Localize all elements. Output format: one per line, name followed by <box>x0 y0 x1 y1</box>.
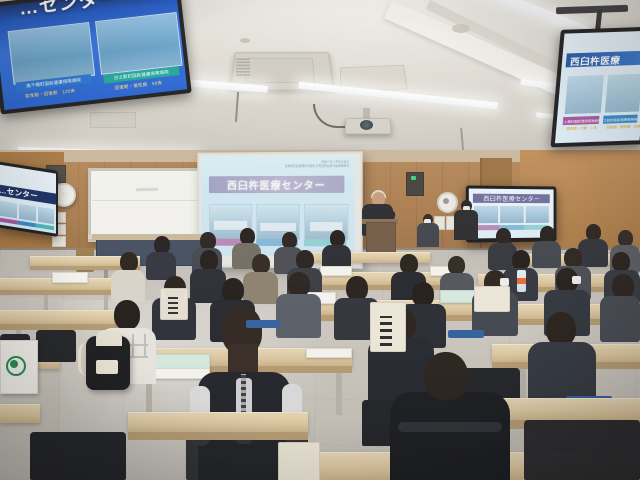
desk-row-c-left <box>0 310 126 325</box>
lecture-hall-photo: 令和７年１月吉日改訂 宮崎県西臼杵郡町村組合立西臼杵広域行政事務組合 西臼杵医療… <box>0 0 640 480</box>
ac-grille <box>245 58 315 83</box>
chair-backrest[interactable] <box>524 420 640 480</box>
light-switch[interactable] <box>52 236 66 247</box>
tote-bag-floor <box>278 442 320 480</box>
slide-title-band: 西臼杵医療センター <box>209 176 344 193</box>
chair-seat[interactable] <box>448 330 484 338</box>
bottle-label <box>517 278 526 284</box>
chair-seat[interactable] <box>246 320 280 328</box>
attendee-head <box>200 250 218 271</box>
ac-vent-icon <box>236 59 250 76</box>
attendee-head <box>400 254 418 274</box>
wall-monitor-right-title: 西臼杵医療センター <box>483 194 540 203</box>
desk-row-e-center <box>128 412 308 433</box>
monitor-right-photo-1 <box>563 74 605 115</box>
monitor-right-title: 西臼杵医療 <box>570 53 622 69</box>
attendee-head <box>564 248 582 268</box>
attendee <box>578 239 608 267</box>
attendee <box>190 269 226 303</box>
tote-bag <box>474 286 510 312</box>
clock-hands-icon <box>443 198 449 204</box>
attendee-head <box>252 254 270 274</box>
backpack-flap <box>96 330 122 346</box>
attendee-head-foreground <box>424 352 468 400</box>
clock-hands-icon <box>59 190 66 197</box>
attendee-head <box>546 312 576 346</box>
handout-paper <box>306 348 352 358</box>
ceiling-speaker-icon <box>240 38 250 43</box>
wall-monitor-left: …センター <box>0 164 56 233</box>
whiteboard-line <box>92 200 204 201</box>
backpack-pocket <box>96 360 118 374</box>
monitor-right-sub-2: 回復期・慢性期 50床 <box>606 123 640 129</box>
desk-edge <box>0 290 120 295</box>
staff-member <box>417 223 439 247</box>
monitor-right-photo-2 <box>604 73 640 114</box>
wall-monitor-right-photo-2 <box>500 206 524 223</box>
desk-row-e-left <box>0 404 40 423</box>
attendee <box>276 294 321 338</box>
tote-bag-print <box>168 296 178 314</box>
ceiling-smoke-detector-icon <box>452 24 470 33</box>
projector-lens-icon <box>360 120 373 130</box>
desk-edge <box>302 285 462 290</box>
attendee <box>600 296 640 342</box>
ceiling-monitor-right: 西臼杵医療 五ヶ瀬町国民健康保険病院 日之影町国民健康保険病院 慢性期・介護 ｘ… <box>555 31 640 144</box>
wall-monitor-right-band: 西臼杵医療センター <box>473 194 550 204</box>
handout-paper <box>52 272 88 283</box>
attendee-head <box>114 300 140 330</box>
chair-backrest[interactable] <box>36 330 76 362</box>
attendee <box>243 272 278 304</box>
attendee-head <box>296 250 314 270</box>
front-whiteboard <box>88 168 214 242</box>
handout-paper <box>148 368 210 379</box>
monitor-left-photo-2 <box>95 12 183 75</box>
attendee-head <box>512 250 530 270</box>
monitor-right-caption-1: 五ヶ瀬町国民健康保険病院 <box>563 116 600 125</box>
chair-backrest[interactable] <box>30 432 126 480</box>
attendee-head <box>612 252 630 272</box>
attendee <box>111 270 145 302</box>
wall-monitor-right-captions <box>474 225 549 230</box>
chair-frame <box>398 422 502 432</box>
face-mask-icon <box>572 276 581 284</box>
attendee-foreground <box>390 392 510 480</box>
wall-monitor-right-photo-3 <box>526 206 549 223</box>
handout-paper <box>320 266 352 276</box>
monitor-left-title: …センター <box>17 0 119 21</box>
desk-leg <box>336 373 342 415</box>
attendee-head <box>120 252 138 272</box>
monitor-left-sub-2: 回復期・慢性期 50床 <box>114 80 162 91</box>
wall-monitor-left-photo-2 <box>19 204 36 222</box>
attendee <box>532 241 561 268</box>
monitor-right-caption-2: 日之影町国民健康保険病院 <box>603 115 638 124</box>
wall-monitor-left-photo-1 <box>0 201 17 219</box>
tote-bag-print <box>380 316 392 346</box>
wall-monitor-left-title: …センター <box>0 185 38 202</box>
face-mask-icon <box>500 278 509 286</box>
front-desk-top <box>92 234 208 240</box>
slide-top-notes: 令和７年１月吉日改訂 宮崎県西臼杵郡町村組合立西臼杵広域行政事務組合 <box>285 161 350 169</box>
slide-title: 西臼杵医療センター <box>227 177 326 192</box>
monitor-right-sub-1: 慢性期・介護 ｘ床 <box>566 125 597 131</box>
desk-edge <box>128 432 308 440</box>
speaker-power-led-icon <box>411 176 416 180</box>
staff-member <box>454 210 478 240</box>
slide-note-2: 宮崎県西臼杵郡町村組合立西臼杵広域行政事務組合 <box>285 164 350 168</box>
paper-bag-logo-center-icon <box>10 360 18 368</box>
ceiling-access-panel-2 <box>90 112 136 128</box>
wall-monitor-left-photo-3 <box>38 207 54 225</box>
